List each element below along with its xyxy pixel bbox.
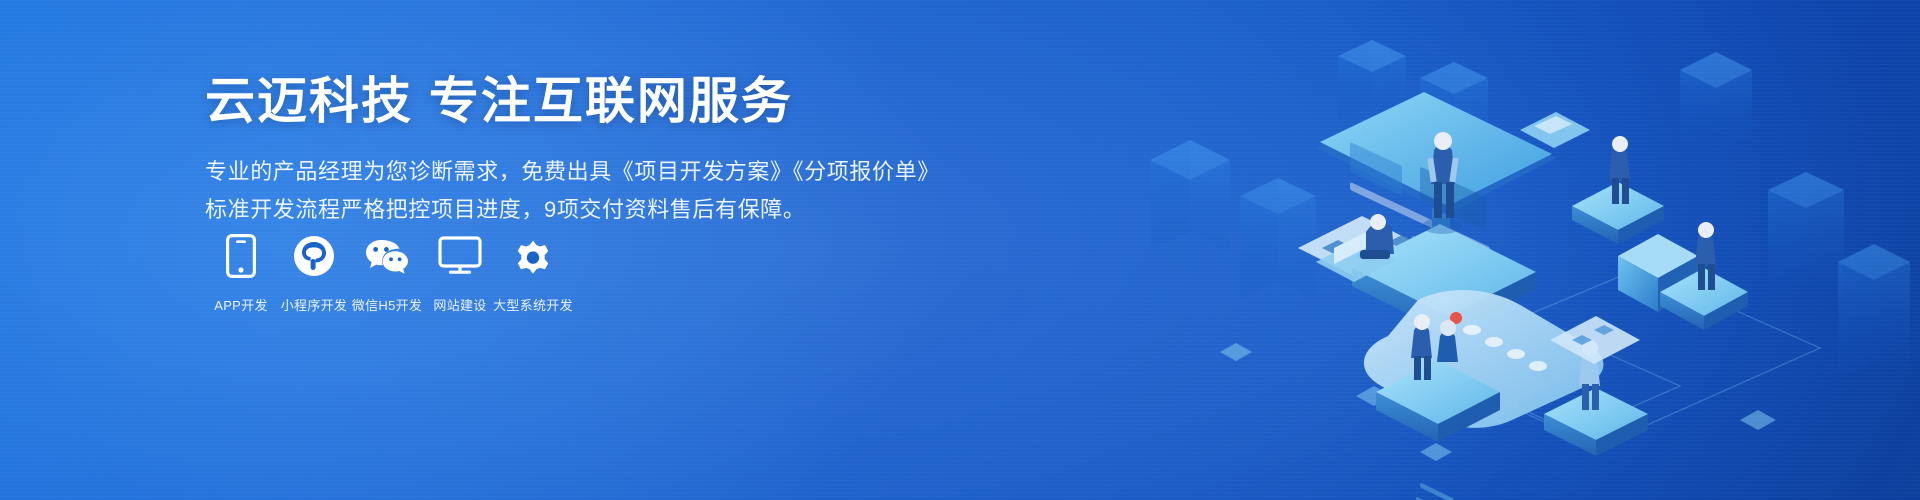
service-item-miniprogram[interactable]: 小程序开发: [278, 233, 350, 314]
hero-copy: 云迈科技 专注互联网服务 专业的产品经理为您诊断需求，免费出具《项目开发方案》《…: [205, 72, 940, 229]
hero-subtitle-line-2: 标准开发流程严格把控项目进度，9项交付资料售后有保障。: [205, 191, 940, 229]
monitor-icon: [438, 233, 482, 279]
service-label-wechat: 微信H5开发: [352, 295, 422, 314]
hero-banner: 云迈科技 专注互联网服务 专业的产品经理为您诊断需求，免费出具《项目开发方案》《…: [0, 0, 1920, 500]
service-label-miniprogram: 小程序开发: [281, 295, 348, 314]
service-item-website[interactable]: 网站建设: [424, 233, 496, 314]
hero-illustration: [1120, 0, 1920, 500]
wechat-icon: [364, 233, 410, 279]
service-item-app[interactable]: APP开发: [205, 233, 277, 314]
service-label-website: 网站建设: [433, 295, 486, 314]
service-item-system[interactable]: 大型系统开发: [497, 233, 569, 314]
service-list: APP开发 小程序开发: [205, 233, 569, 314]
gear-icon: [512, 233, 554, 279]
mobile-phone-icon: [226, 233, 256, 279]
service-label-system: 大型系统开发: [493, 295, 573, 314]
hero-subtitle: 专业的产品经理为您诊断需求，免费出具《项目开发方案》《分项报价单》 标准开发流程…: [205, 153, 940, 229]
mini-program-icon: [293, 233, 335, 279]
hero-subtitle-line-1: 专业的产品经理为您诊断需求，免费出具《项目开发方案》《分项报价单》: [205, 153, 940, 191]
hero-headline: 云迈科技 专注互联网服务: [205, 72, 940, 131]
service-item-wechat[interactable]: 微信H5开发: [351, 233, 423, 314]
floating-panel-top-right: [1520, 112, 1590, 148]
service-label-app: APP开发: [214, 295, 268, 314]
pedestal-right-upper: [1572, 136, 1664, 244]
